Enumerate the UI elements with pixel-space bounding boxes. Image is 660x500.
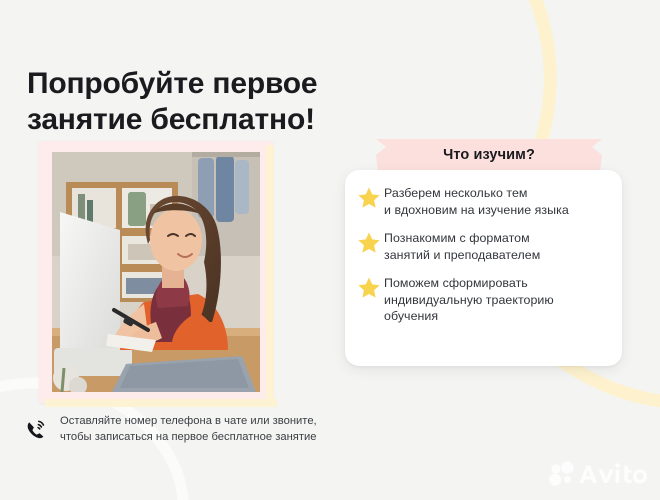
- avito-watermark: [549, 461, 647, 487]
- promo-banner: Попробуйте первое занятие бесплатно!: [0, 0, 660, 500]
- page-title: Попробуйте первое занятие бесплатно!: [27, 66, 447, 138]
- contact-note: Оставляйте номер телефона в чате или зво…: [23, 414, 317, 445]
- list-item-line-2: занятий и преподавателем: [384, 248, 540, 262]
- list-item: Поможем сформировать индивидуальную трае…: [357, 274, 608, 325]
- star-icon: [357, 186, 381, 209]
- photo-frame: [39, 141, 273, 403]
- list-item-text: Познакомим с форматом занятий и преподав…: [384, 229, 540, 263]
- page-title-line-1: Попробуйте первое: [27, 66, 447, 102]
- list-item-line-2: и вдохновим на изучение языка: [384, 203, 569, 217]
- list-item-text: Поможем сформировать индивидуальную трае…: [384, 274, 554, 325]
- avito-logo: [549, 461, 647, 487]
- list-item: Разберем несколько тем и вдохновим на из…: [357, 184, 608, 218]
- list-item-line-1: Познакомим с форматом: [384, 231, 530, 245]
- contact-note-line-2: чтобы записаться на первое бесплатное за…: [60, 430, 317, 446]
- learn-card: Разберем несколько тем и вдохновим на из…: [345, 170, 622, 366]
- list-item: Познакомим с форматом занятий и преподав…: [357, 229, 608, 263]
- learn-card-title: Что изучим?: [376, 137, 602, 174]
- star-icon: [357, 231, 381, 254]
- phone-call-icon: [23, 416, 51, 444]
- learn-card-ribbon: Что изучим?: [376, 137, 602, 174]
- list-item-line-3: обучения: [384, 309, 438, 323]
- list-item-text: Разберем несколько тем и вдохновим на из…: [384, 184, 569, 218]
- list-item-line-1: Разберем несколько тем: [384, 186, 527, 200]
- page-title-line-2: занятие бесплатно!: [27, 102, 447, 138]
- star-icon: [357, 276, 381, 299]
- student-photo: [52, 152, 260, 392]
- student-photo-illustration: [52, 152, 260, 392]
- contact-note-line-1: Оставляйте номер телефона в чате или зво…: [60, 414, 317, 430]
- list-item-line-1: Поможем сформировать: [384, 276, 528, 290]
- contact-note-text: Оставляйте номер телефона в чате или зво…: [60, 414, 317, 445]
- list-item-line-2: индивидуальную траекторию: [384, 293, 554, 307]
